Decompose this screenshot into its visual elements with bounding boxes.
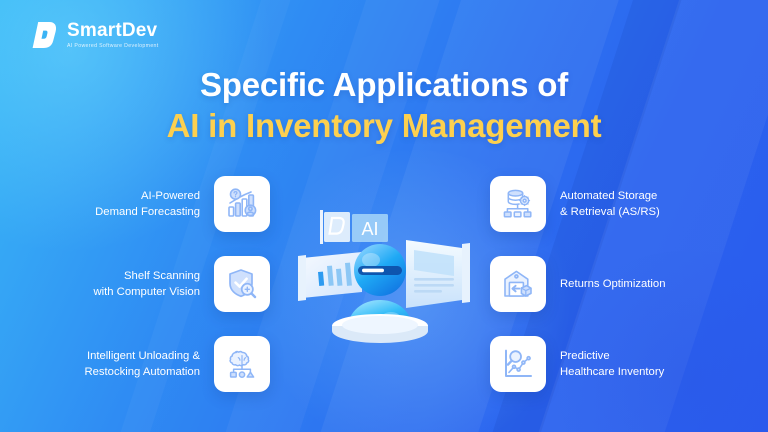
ai-badge-label: AI — [361, 219, 378, 239]
feature-label: Predictive Healthcare Inventory — [560, 348, 664, 380]
feature-label: Returns Optimization — [560, 276, 665, 292]
feature-list-left: AI-Powered Demand Forecasting — [22, 176, 270, 392]
bar-chart-panel — [298, 252, 362, 301]
logo-panel — [320, 210, 350, 244]
brain-sorting-icon[interactable] — [214, 336, 270, 392]
infographic-canvas: SmartDev AI Powered Software Development… — [0, 0, 768, 432]
feature-label: Automated Storage & Retrieval (AS/RS) — [560, 188, 660, 220]
feature-item-intelligent-unloading[interactable]: Intelligent Unloading & Restocking Autom… — [84, 336, 270, 392]
feature-item-demand-forecasting[interactable]: AI-Powered Demand Forecasting — [95, 176, 270, 232]
title-line-1: Specific Applications of — [0, 66, 768, 105]
warehouse-return-box-icon[interactable] — [490, 256, 546, 312]
title-line-2: AI in Inventory Management — [0, 107, 768, 146]
feature-item-returns-optimization[interactable]: Returns Optimization — [490, 256, 665, 312]
demand-forecast-chart-icon[interactable] — [214, 176, 270, 232]
feature-item-automated-storage[interactable]: Automated Storage & Retrieval (AS/RS) — [490, 176, 660, 232]
feature-label: Shelf Scanning with Computer Vision — [93, 268, 200, 300]
ai-label-panel: AI — [352, 214, 388, 242]
predictive-analytics-magnifier-icon[interactable] — [490, 336, 546, 392]
database-gear-storage-icon[interactable] — [490, 176, 546, 232]
feature-item-shelf-scanning[interactable]: Shelf Scanning with Computer Vision — [93, 256, 270, 312]
ai-robot-dashboard-illustration: AI — [296, 196, 472, 356]
feature-list-right: Automated Storage & Retrieval (AS/RS) Re… — [490, 176, 746, 392]
page-title: Specific Applications of AI in Inventory… — [0, 66, 768, 146]
shield-magnifier-icon[interactable] — [214, 256, 270, 312]
brand-tagline: AI Powered Software Development — [67, 44, 159, 49]
feature-label: AI-Powered Demand Forecasting — [95, 188, 200, 220]
smartdev-d-mark-icon — [30, 20, 58, 50]
brand-logo[interactable]: SmartDev AI Powered Software Development — [30, 20, 159, 50]
document-panel — [406, 240, 470, 308]
feature-item-predictive-healthcare[interactable]: Predictive Healthcare Inventory — [490, 336, 664, 392]
feature-label: Intelligent Unloading & Restocking Autom… — [84, 348, 200, 380]
brand-name: SmartDev — [67, 21, 159, 40]
